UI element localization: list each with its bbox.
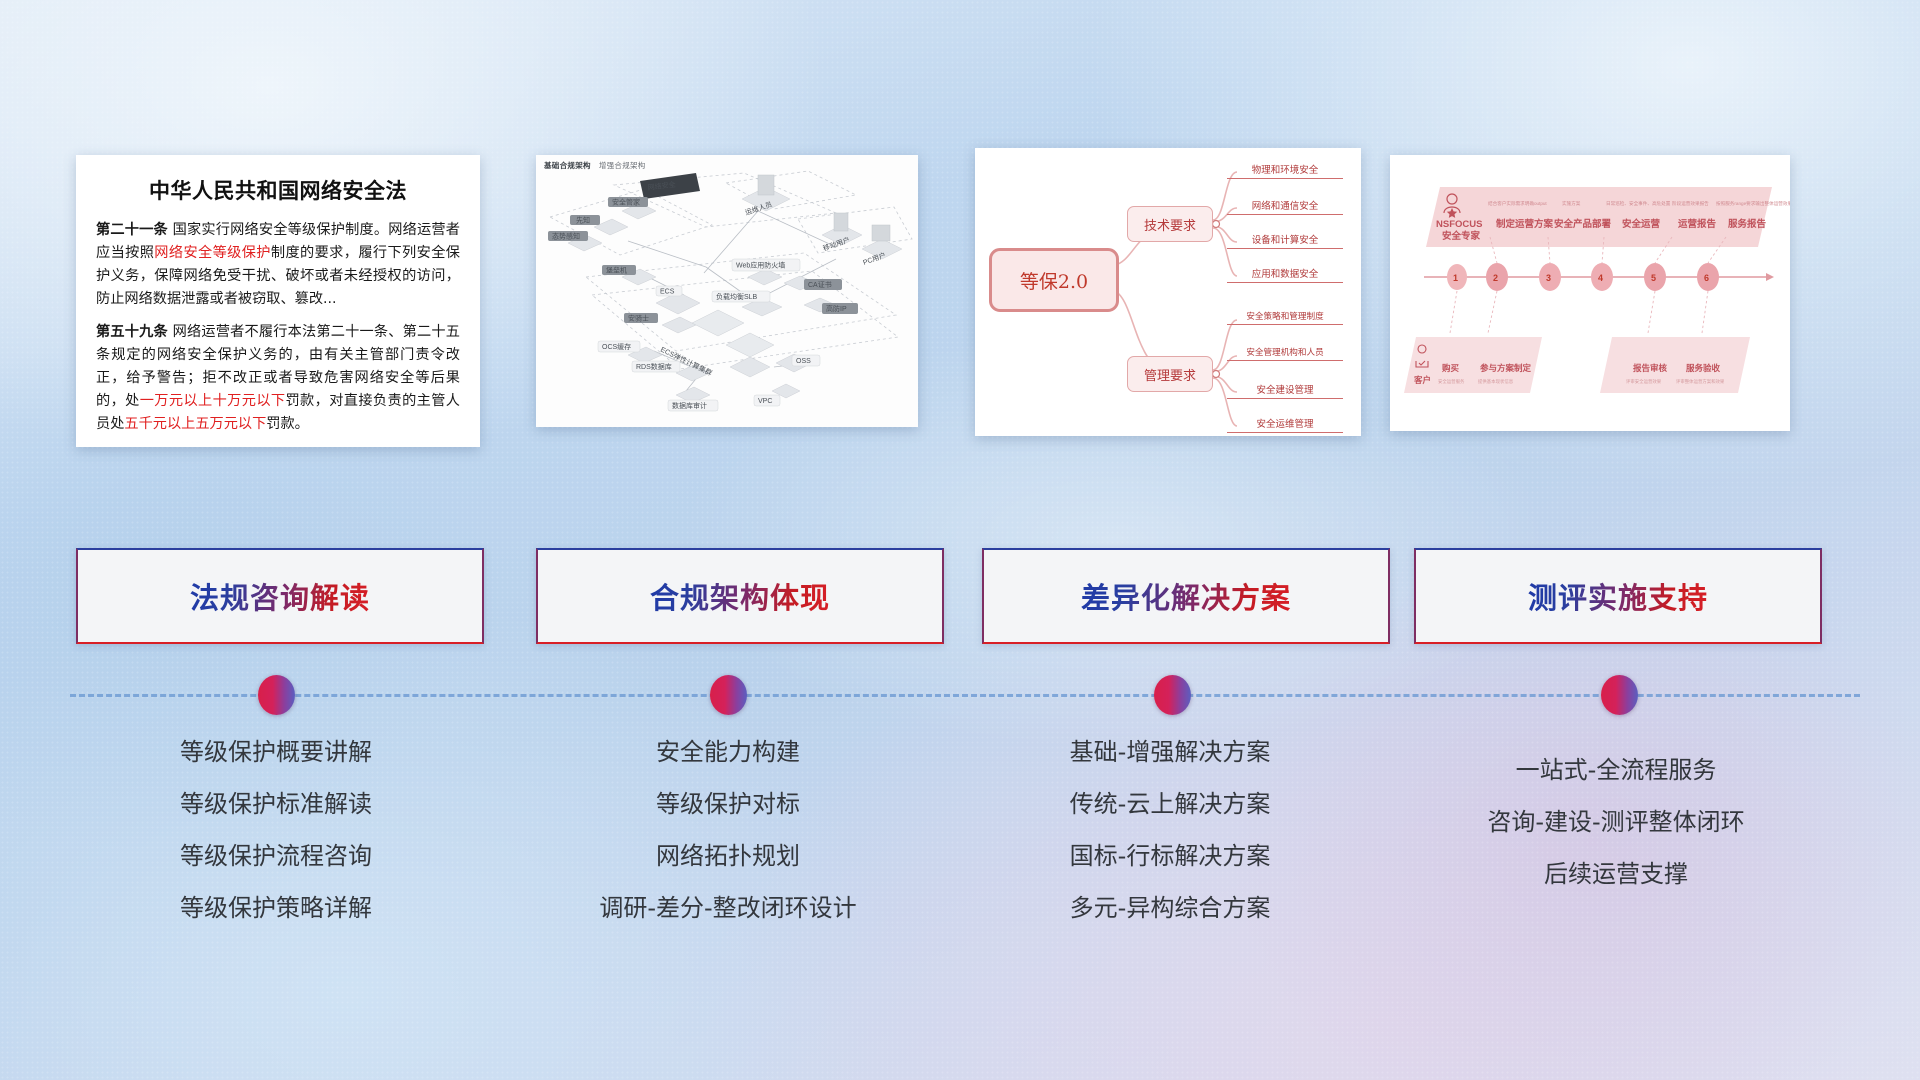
svg-text:高防IP: 高防IP — [826, 304, 847, 313]
list-item: 基础-增强解决方案 — [960, 740, 1380, 764]
law-article-59-highlight-2: 五千元以上五万元以下 — [124, 416, 266, 432]
timeline-dot[interactable] — [710, 675, 747, 715]
list-item: 等级保护概要讲解 — [66, 740, 486, 764]
svg-text:负载均衡SLB: 负载均衡SLB — [716, 292, 758, 301]
law-body: 中华人民共和国网络安全法 第二十一条 国家实行网络安全等级保护制度。网络运营者应… — [76, 155, 480, 447]
nsfocus-top-title: 制定运营方案 — [1496, 218, 1554, 230]
timeline — [0, 670, 1920, 720]
tab-assessment-support[interactable]: 测评实施支持 — [1414, 548, 1822, 644]
law-article-59-label: 第五十九条 — [96, 324, 168, 340]
svg-text:3: 3 — [1546, 273, 1551, 283]
timeline-dot[interactable] — [1154, 675, 1191, 715]
svg-text:先知: 先知 — [576, 216, 590, 225]
nsfocus-top-sub: 实施方案 — [1562, 200, 1581, 207]
detail-column-solution: 基础-增强解决方案 传统-云上解决方案 国标-行标解决方案 多元-异构综合方案 — [960, 740, 1380, 948]
law-article-59-end: 罚款。 — [266, 416, 309, 432]
list-item: 多元-异构综合方案 — [960, 896, 1380, 920]
nsfocus-top-sub: 阶段运营效果报告 — [1672, 200, 1709, 207]
list-item: 后续运营支撑 — [1406, 862, 1826, 886]
architecture-dark-label: 网络安全 — [640, 173, 700, 199]
law-article-21-label: 第二十一条 — [96, 222, 168, 238]
mindmap-root[interactable]: 等保2.0 — [989, 248, 1119, 312]
svg-text:6: 6 — [1704, 273, 1709, 283]
list-item: 等级保护标准解读 — [66, 792, 486, 816]
nsfocus-top-sub: 结合客户实际需求明确output — [1488, 200, 1547, 207]
law-article-21: 第二十一条 国家实行网络安全等级保护制度。网络运营者应当按照网络安全等级保护制度… — [96, 219, 460, 311]
nsfocus-bottom-title: 报告审核 — [1633, 363, 1668, 373]
detail-column-assessment: 一站式-全流程服务 咨询-建设-测评整体闭环 后续运营支撑 — [1406, 740, 1826, 914]
nsfocus-top-sub: 按照服务range要求输出整体运营效果 — [1716, 200, 1790, 207]
nsfocus-bottom-title: 参与方案制定 — [1480, 363, 1532, 373]
mindmap-leaf[interactable]: 安全管理机构和人员 — [1227, 346, 1343, 361]
list-item: 等级保护流程咨询 — [66, 844, 486, 868]
detail-column-regulation: 等级保护概要讲解 等级保护标准解读 等级保护流程咨询 等级保护策略详解 — [66, 740, 486, 948]
svg-text:2: 2 — [1493, 273, 1498, 283]
list-item: 咨询-建设-测评整体闭环 — [1406, 810, 1826, 834]
svg-text:5: 5 — [1651, 273, 1656, 283]
svg-text:ECS: ECS — [660, 289, 675, 296]
nsfocus-bottom-sub: 安全运营服务 — [1438, 378, 1465, 385]
mindmap-collapse-mgmt — [1213, 371, 1220, 378]
card-law-text[interactable]: 中华人民共和国网络安全法 第二十一条 国家实行网络安全等级保护制度。网络运营者应… — [76, 155, 480, 447]
list-item: 传统-云上解决方案 — [960, 792, 1380, 816]
nsfocus-bottom-band-right — [1600, 337, 1750, 393]
svg-text:数据库审计: 数据库审计 — [672, 401, 707, 410]
svg-text:安骑士: 安骑士 — [628, 314, 649, 323]
nsfocus-bottom-title: 购买 — [1441, 363, 1460, 373]
svg-text:OSS: OSS — [796, 358, 811, 365]
svg-text:RDS数据库: RDS数据库 — [636, 362, 672, 371]
mindmap-leaf[interactable]: 应用和数据安全 — [1227, 266, 1343, 283]
card-architecture-diagram[interactable]: 基础合规架构增强合规架构 — [536, 155, 918, 427]
timeline-line — [70, 694, 1860, 697]
mindmap-leaf[interactable]: 设备和计算安全 — [1227, 232, 1343, 249]
card-nsfocus-timeline[interactable]: NSFOCUS 安全专家 结合客户实际需求明确output 制定运营方案 实施方… — [1390, 155, 1790, 431]
architecture-canvas: 基础合规架构增强合规架构 — [536, 155, 918, 427]
nsfocus-bottom-sub: 评审安全运营效果 — [1626, 378, 1662, 385]
nsfocus-canvas: NSFOCUS 安全专家 结合客户实际需求明确output 制定运营方案 实施方… — [1390, 155, 1790, 431]
tab-differentiated-solution[interactable]: 差异化解决方案 — [982, 548, 1390, 644]
nsfocus-expert-role: 安全专家 — [1442, 230, 1481, 242]
card-mindmap[interactable]: 等保2.0 技术要求 管理要求 物理和环境安全 网络和通信安全 设备和计算安全 … — [975, 148, 1361, 436]
svg-text:堡垒机: 堡垒机 — [606, 266, 627, 275]
list-item: 等级保护对标 — [518, 792, 938, 816]
list-item: 安全能力构建 — [518, 740, 938, 764]
nsfocus-axis-arrow — [1766, 273, 1774, 281]
nsfocus-top-title: 服务报告 — [1728, 218, 1767, 230]
nsfocus-top-title: 安全产品部署 — [1554, 218, 1612, 230]
law-article-59: 第五十九条 网络运营者不履行本法第二十一条、第二十五条规定的网络安全保护义务的，… — [96, 321, 460, 436]
svg-text:CA证书: CA证书 — [808, 280, 832, 289]
detail-columns: 等级保护概要讲解 等级保护标准解读 等级保护流程咨询 等级保护策略详解 安全能力… — [0, 740, 1920, 980]
mindmap-branch-tech[interactable]: 技术要求 — [1127, 206, 1213, 242]
cards-row: 中华人民共和国网络安全法 第二十一条 国家实行网络安全等级保护制度。网络运营者应… — [0, 0, 1920, 460]
mindmap-branch-mgmt[interactable]: 管理要求 — [1127, 356, 1213, 392]
svg-text:态势感知: 态势感知 — [552, 232, 580, 241]
svg-text:4: 4 — [1598, 273, 1603, 283]
nsfocus-customer-label: 客户 — [1413, 375, 1431, 385]
list-item: 国标-行标解决方案 — [960, 844, 1380, 868]
nsfocus-bottom-sub: 提供基本现状信息 — [1478, 378, 1514, 385]
mindmap-leaf[interactable]: 安全策略和管理制度 — [1227, 310, 1343, 325]
nsfocus-top-sub: 日常巡检、安全事件、高危处置 — [1606, 200, 1671, 207]
mindmap-leaf[interactable]: 安全建设管理 — [1227, 382, 1343, 399]
mindmap-leaf[interactable]: 安全运维管理 — [1227, 416, 1343, 433]
list-item: 一站式-全流程服务 — [1406, 758, 1826, 782]
tab-label: 合规架构体现 — [650, 575, 830, 617]
law-title: 中华人民共和国网络安全法 — [96, 175, 460, 205]
svg-text:VPC: VPC — [758, 398, 772, 405]
nsfocus-top-title: 安全运营 — [1622, 218, 1661, 230]
tab-label: 测评实施支持 — [1528, 575, 1708, 617]
list-item: 网络拓扑规划 — [518, 844, 938, 868]
timeline-dot[interactable] — [1601, 675, 1638, 715]
svg-text:安全管家: 安全管家 — [612, 198, 640, 207]
nsfocus-bottom-sub: 评审整体运营方案和效果 — [1676, 378, 1725, 385]
tab-label: 差异化解决方案 — [1081, 575, 1291, 617]
mindmap-leaf[interactable]: 物理和环境安全 — [1227, 162, 1343, 179]
list-item: 等级保护策略详解 — [66, 896, 486, 920]
mindmap-canvas: 等保2.0 技术要求 管理要求 物理和环境安全 网络和通信安全 设备和计算安全 … — [975, 148, 1361, 436]
list-item: 调研-差分-整改闭环设计 — [518, 896, 938, 920]
tab-regulation-consulting[interactable]: 法规咨询解读 — [76, 548, 484, 644]
nsfocus-svg: NSFOCUS 安全专家 结合客户实际需求明确output 制定运营方案 实施方… — [1390, 155, 1790, 431]
svg-text:1: 1 — [1453, 273, 1458, 283]
tab-label: 法规咨询解读 — [190, 575, 370, 617]
detail-column-architecture: 安全能力构建 等级保护对标 网络拓扑规划 调研-差分-整改闭环设计 — [518, 740, 938, 948]
nsfocus-expert-name: NSFOCUS — [1436, 219, 1482, 230]
mindmap-leaf[interactable]: 网络和通信安全 — [1227, 198, 1343, 215]
nsfocus-top-title: 运营报告 — [1678, 218, 1717, 230]
tabs-row: 法规咨询解读 合规架构体现 差异化解决方案 测评实施支持 — [0, 548, 1920, 644]
svg-text:OCS缓存: OCS缓存 — [602, 342, 631, 351]
mindmap-collapse-tech — [1213, 221, 1220, 228]
timeline-dot[interactable] — [258, 675, 295, 715]
architecture-svg: 网络安全 态势感知 先知 安全管家 — [536, 155, 918, 427]
nsfocus-bottom-title: 服务验收 — [1686, 363, 1721, 373]
tab-compliance-architecture[interactable]: 合规架构体现 — [536, 548, 944, 644]
svg-text:Web应用防火墙: Web应用防火墙 — [736, 261, 785, 270]
law-article-59-highlight-1: 一万元以上十万元以下 — [140, 393, 286, 409]
law-article-21-highlight: 网络安全等级保护 — [154, 245, 271, 261]
